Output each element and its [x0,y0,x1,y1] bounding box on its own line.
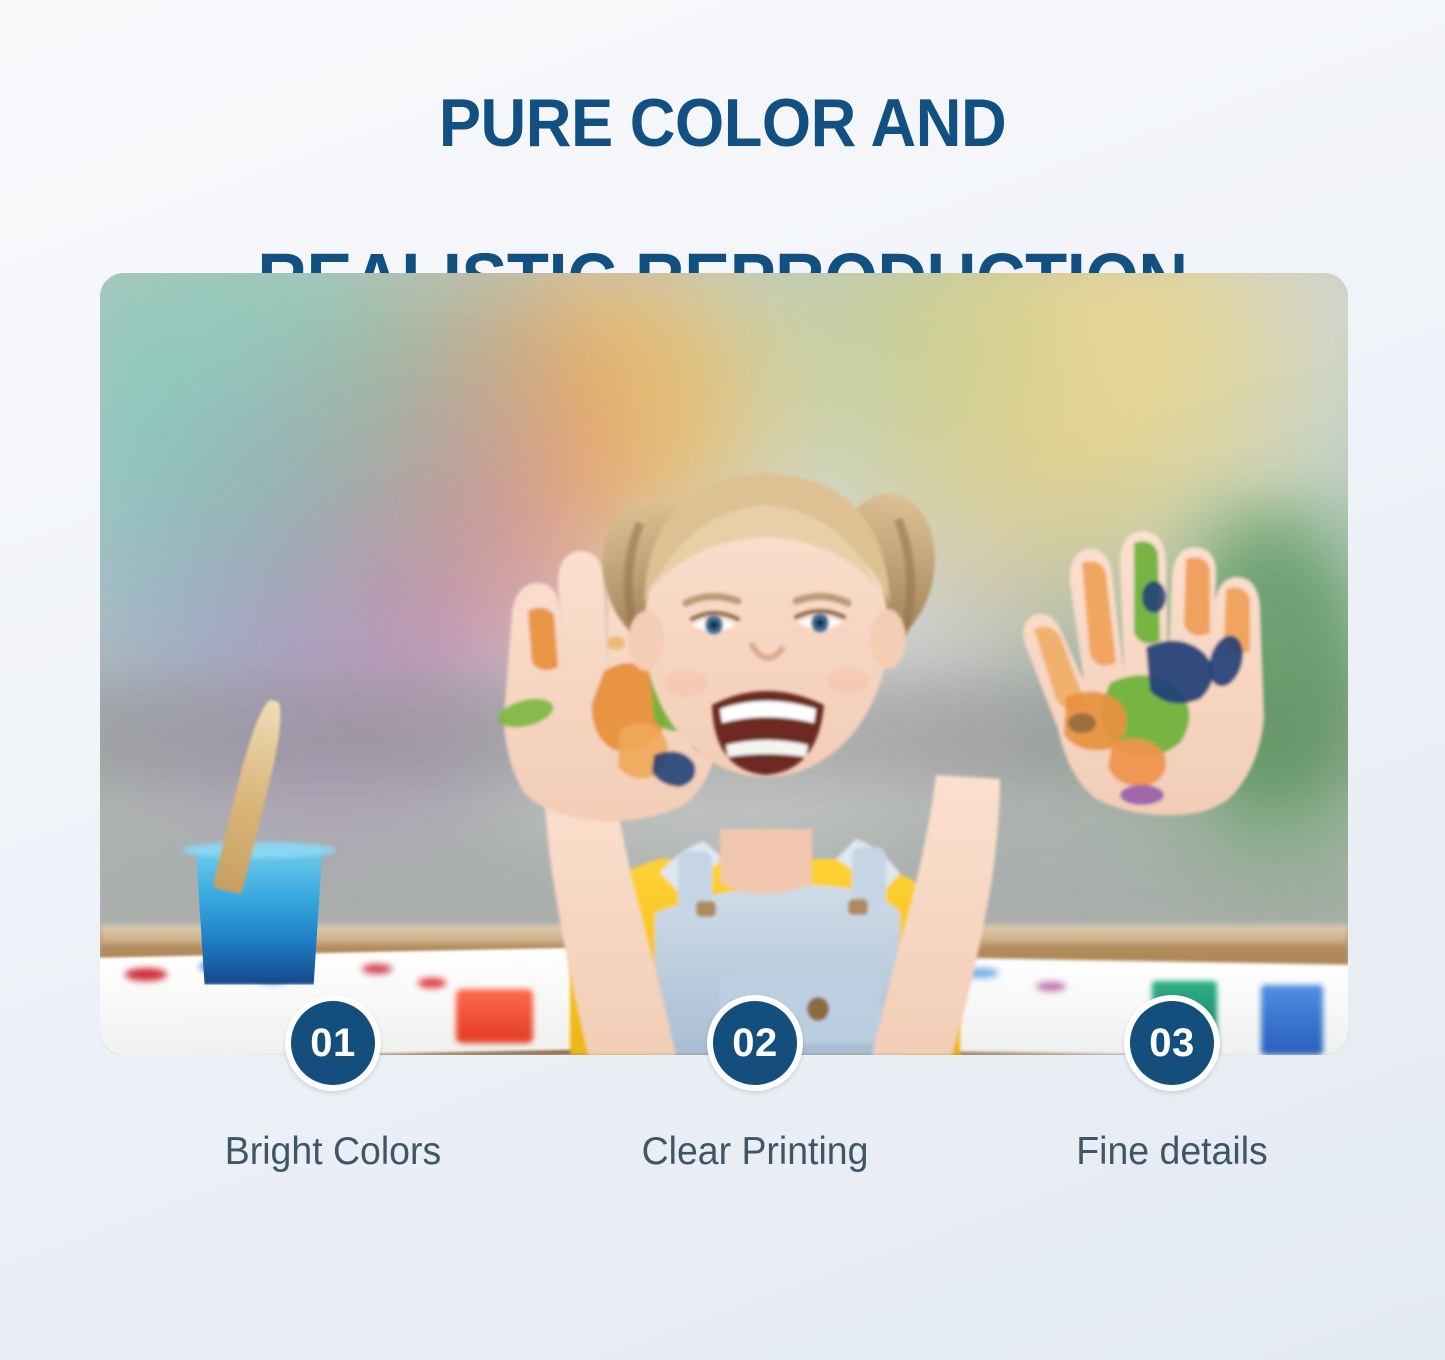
child-illustration [100,273,1348,1055]
hero-photo [100,273,1348,1055]
photo-scene [100,273,1348,1055]
headline-line-1: PURE COLOR AND [51,84,1395,162]
feature-label-fine-details: Fine details [970,1128,1373,1176]
feature-badge-03[interactable]: 03 [1124,995,1220,1091]
feature-badge-02[interactable]: 02 [707,995,803,1091]
feature-badge-01[interactable]: 01 [285,995,381,1091]
feature-label-bright-colors: Bright Colors [131,1128,534,1176]
feature-label-clear-printing: Clear Printing [553,1128,956,1176]
